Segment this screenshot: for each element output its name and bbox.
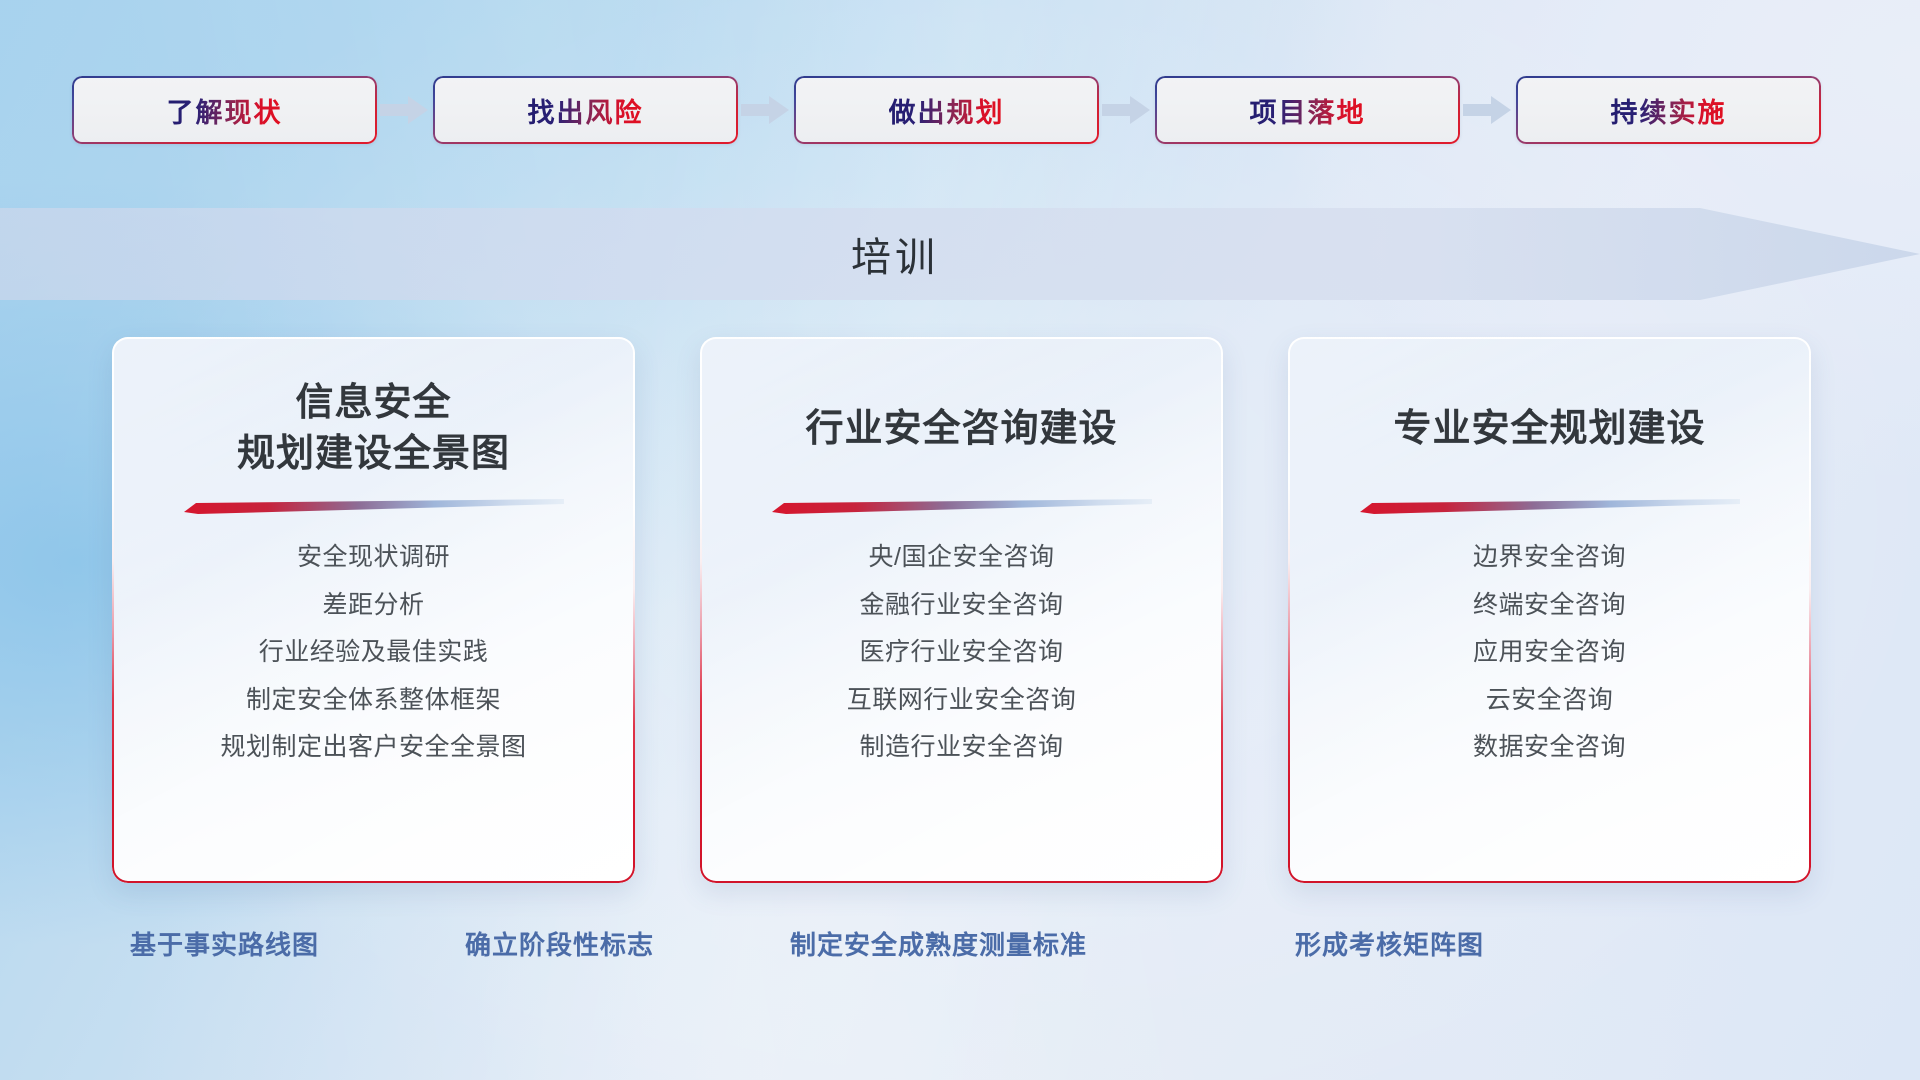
list-item: 制定安全体系整体框架 <box>246 682 501 720</box>
card-information-security-blueprint[interactable]: 信息安全 规划建设全景图 <box>112 337 635 883</box>
training-banner: 培训 <box>0 208 1920 300</box>
card-item-list: 安全现状调研 差距分析 行业经验及最佳实践 制定安全体系整体框架 规划制定出客户… <box>138 539 609 767</box>
process-step-label: 持续实施 <box>1611 91 1727 130</box>
list-item: 医疗行业安全咨询 <box>859 634 1063 672</box>
process-step-row: 了解现状 找出风险 做出规划 项目落地 持续实施 <box>0 75 1920 145</box>
process-step-label: 了解现状 <box>167 91 283 130</box>
process-step-4[interactable]: 项目落地 <box>1155 76 1460 144</box>
process-step-label: 项目落地 <box>1250 91 1366 130</box>
card-row: 信息安全 规划建设全景图 <box>112 337 1812 887</box>
process-step-label: 找出风险 <box>528 91 644 130</box>
footer-label-4: 形成考核矩阵图 <box>1295 925 1484 962</box>
card-divider <box>184 497 564 515</box>
list-item: 差距分析 <box>322 587 424 625</box>
card-title: 信息安全 规划建设全景图 <box>237 377 510 481</box>
list-item: 央/国企安全咨询 <box>869 539 1055 577</box>
card-item-list: 边界安全咨询 终端安全咨询 应用安全咨询 云安全咨询 数据安全咨询 <box>1314 539 1785 767</box>
list-item: 边界安全咨询 <box>1473 539 1626 577</box>
footer-label-1: 基于事实路线图 <box>130 925 319 962</box>
step-arrow-icon-2 <box>739 93 793 127</box>
process-step-2[interactable]: 找出风险 <box>433 76 738 144</box>
card-title: 专业安全规划建设 <box>1393 377 1705 481</box>
card-professional-security-planning[interactable]: 专业安全规划建设 <box>1288 337 1811 883</box>
banner-label: 培训 <box>0 208 1790 300</box>
list-item: 应用安全咨询 <box>1473 634 1626 672</box>
process-step-3[interactable]: 做出规划 <box>794 76 1099 144</box>
step-arrow-icon-1 <box>378 93 432 127</box>
process-step-5[interactable]: 持续实施 <box>1516 76 1821 144</box>
step-arrow-icon-3 <box>1100 93 1154 127</box>
process-step-1[interactable]: 了解现状 <box>72 76 377 144</box>
list-item: 云安全咨询 <box>1486 682 1614 720</box>
list-item: 制造行业安全咨询 <box>859 729 1063 767</box>
list-item: 行业经验及最佳实践 <box>259 634 489 672</box>
card-divider <box>772 497 1152 515</box>
list-item: 金融行业安全咨询 <box>859 587 1063 625</box>
list-item: 终端安全咨询 <box>1473 587 1626 625</box>
footer-label-2: 确立阶段性标志 <box>465 925 654 962</box>
card-item-list: 央/国企安全咨询 金融行业安全咨询 医疗行业安全咨询 互联网行业安全咨询 制造行… <box>726 539 1197 767</box>
footer-label-3: 制定安全成熟度测量标准 <box>790 925 1087 962</box>
list-item: 数据安全咨询 <box>1473 729 1626 767</box>
list-item: 规划制定出客户安全全景图 <box>220 729 526 767</box>
card-title: 行业安全咨询建设 <box>805 377 1117 481</box>
process-step-label: 做出规划 <box>889 91 1005 130</box>
step-arrow-icon-4 <box>1461 93 1515 127</box>
list-item: 安全现状调研 <box>297 539 450 577</box>
list-item: 互联网行业安全咨询 <box>847 682 1077 720</box>
card-industry-security-consulting[interactable]: 行业安全咨询建设 <box>700 337 1223 883</box>
card-divider <box>1360 497 1740 515</box>
footer-label-row: 基于事实路线图 确立阶段性标志 制定安全成熟度测量标准 形成考核矩阵图 <box>0 925 1920 967</box>
